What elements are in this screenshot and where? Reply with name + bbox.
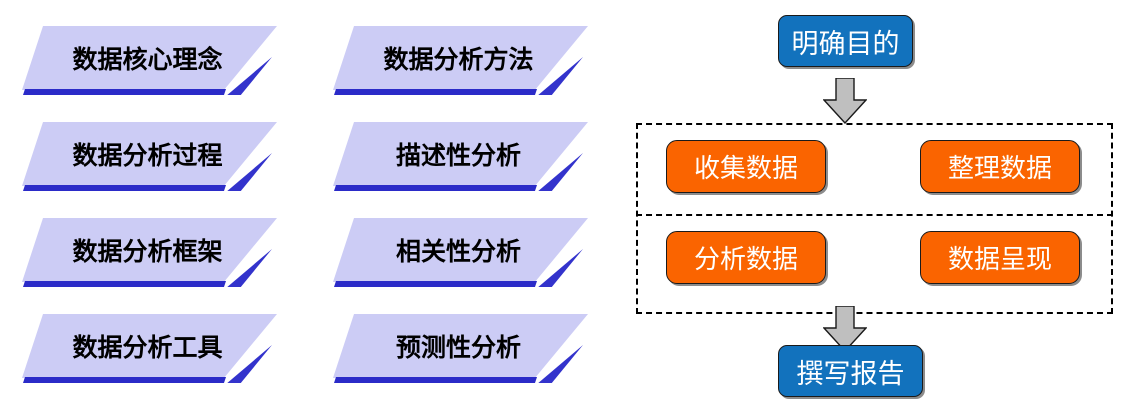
banner-list: 数据核心理念 数据分析过程 数据分析框架 数据分析工具 数据分析方法 — [0, 0, 630, 415]
flow-node-organize-data[interactable]: 整理数据 — [920, 140, 1080, 193]
banner-label: 数据分析方法 — [333, 26, 588, 90]
banner-label: 描述性分析 — [333, 122, 588, 186]
banner-item-data-analysis-methods[interactable]: 数据分析方法 — [333, 26, 588, 102]
flow-node-label: 撰写报告 — [797, 352, 905, 391]
banner-item-data-analysis-tools[interactable]: 数据分析工具 — [22, 314, 277, 390]
arrow-down-icon-start-to-group — [823, 78, 867, 124]
banner-item-data-analysis-process[interactable]: 数据分析过程 — [22, 122, 277, 198]
flow-node-present-data[interactable]: 数据呈现 — [920, 231, 1080, 284]
flow-node-analyze-data[interactable]: 分析数据 — [666, 231, 826, 284]
flow-node-label: 收集数据 — [694, 148, 798, 185]
banner-item-correlation-analysis[interactable]: 相关性分析 — [333, 218, 588, 294]
flow-node-label: 整理数据 — [948, 148, 1052, 185]
banner-item-predictive-analysis[interactable]: 预测性分析 — [333, 314, 588, 390]
banner-label: 数据分析工具 — [22, 314, 277, 378]
slide-canvas: 数据核心理念 数据分析过程 数据分析框架 数据分析工具 数据分析方法 — [0, 0, 1123, 415]
flow-node-collect-data[interactable]: 收集数据 — [666, 140, 826, 193]
flow-node-write-report[interactable]: 撰写报告 — [778, 345, 923, 397]
banner-item-descriptive-analysis[interactable]: 描述性分析 — [333, 122, 588, 198]
flow-node-label: 分析数据 — [694, 239, 798, 276]
banner-label: 预测性分析 — [333, 314, 588, 378]
banner-item-data-analysis-framework[interactable]: 数据分析框架 — [22, 218, 277, 294]
banner-label: 相关性分析 — [333, 218, 588, 282]
flow-node-label: 数据呈现 — [948, 239, 1052, 276]
flow-node-clarify-purpose[interactable]: 明确目的 — [778, 15, 913, 67]
banner-item-data-core-concept[interactable]: 数据核心理念 — [22, 26, 277, 102]
banner-label: 数据分析框架 — [22, 218, 277, 282]
banner-label: 数据分析过程 — [22, 122, 277, 186]
flow-node-label: 明确目的 — [792, 22, 900, 61]
flow-group-divider — [636, 214, 1113, 216]
flowchart: 明确目的 收集数据 整理数据 分析数据 数据呈现 — [630, 0, 1123, 415]
banner-label: 数据核心理念 — [22, 26, 277, 90]
